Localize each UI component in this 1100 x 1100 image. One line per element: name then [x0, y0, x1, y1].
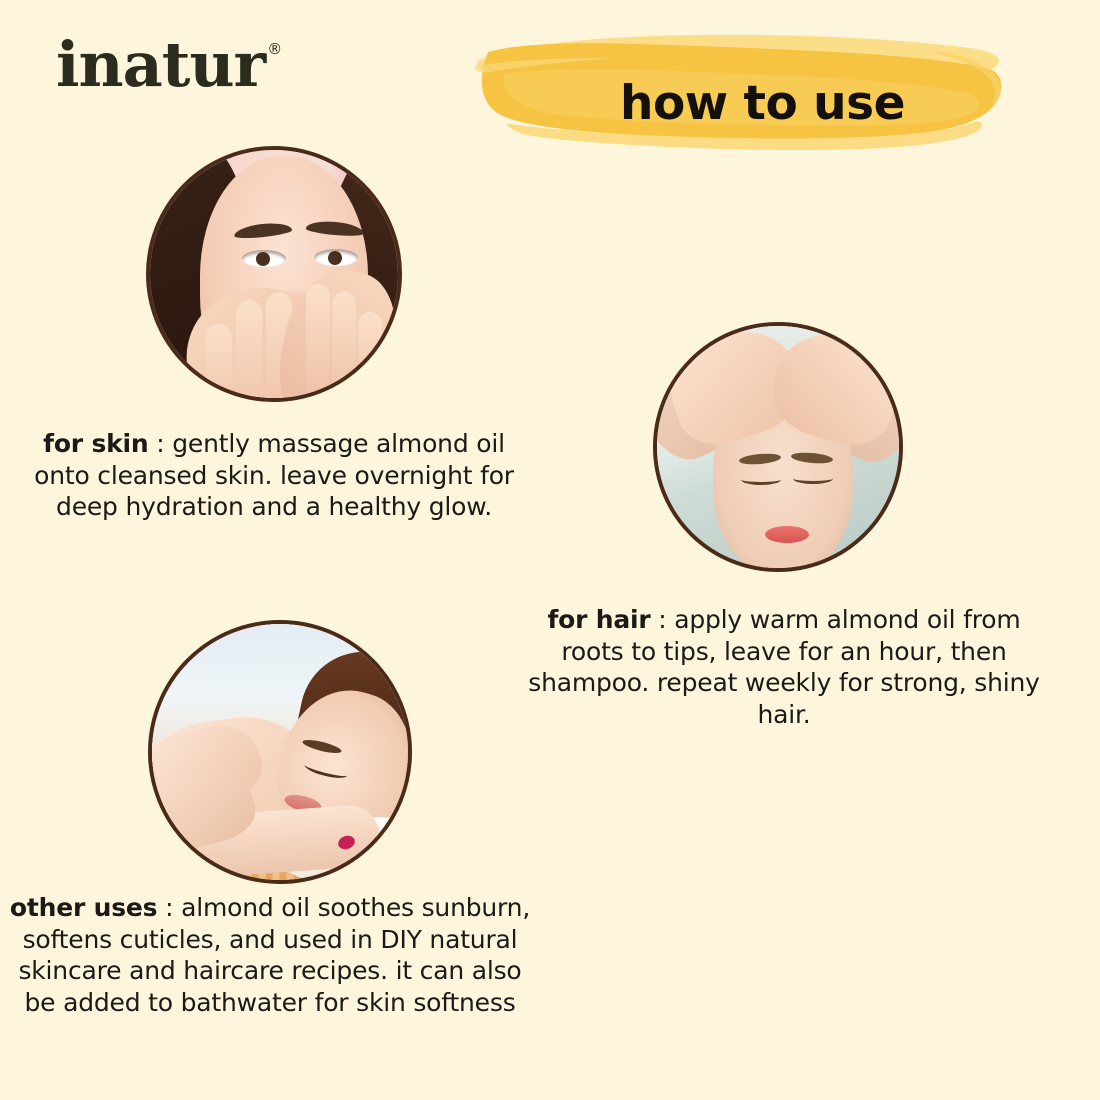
caption-for-hair-label: for hair — [547, 605, 650, 634]
page-title: how to use — [470, 76, 1010, 132]
brand-logo: inatur ® — [56, 34, 282, 96]
caption-for-skin-label: for skin — [43, 429, 148, 458]
caption-other-uses-separator: : — [157, 893, 181, 922]
caption-for-skin-separator: : — [149, 429, 173, 458]
registered-trademark-icon: ® — [267, 42, 282, 57]
caption-other-uses: other uses : almond oil soothes sunburn,… — [8, 892, 532, 1018]
how-to-use-infographic: inatur ® how to use — [0, 0, 1100, 1100]
photo-other-uses — [148, 620, 412, 884]
caption-for-hair: for hair : apply warm almond oil from ro… — [528, 604, 1040, 730]
photo-for-hair — [653, 322, 903, 572]
caption-for-skin: for skin : gently massage almond oil ont… — [18, 428, 530, 523]
photo-for-skin-scene — [150, 150, 398, 398]
caption-for-hair-separator: : — [651, 605, 675, 634]
caption-other-uses-label: other uses — [10, 893, 157, 922]
photo-other-uses-scene — [152, 624, 408, 880]
brand-logo-text: inatur — [56, 34, 265, 96]
header-banner: how to use — [470, 22, 1010, 152]
photo-for-hair-scene — [657, 326, 899, 568]
photo-for-skin — [146, 146, 402, 402]
